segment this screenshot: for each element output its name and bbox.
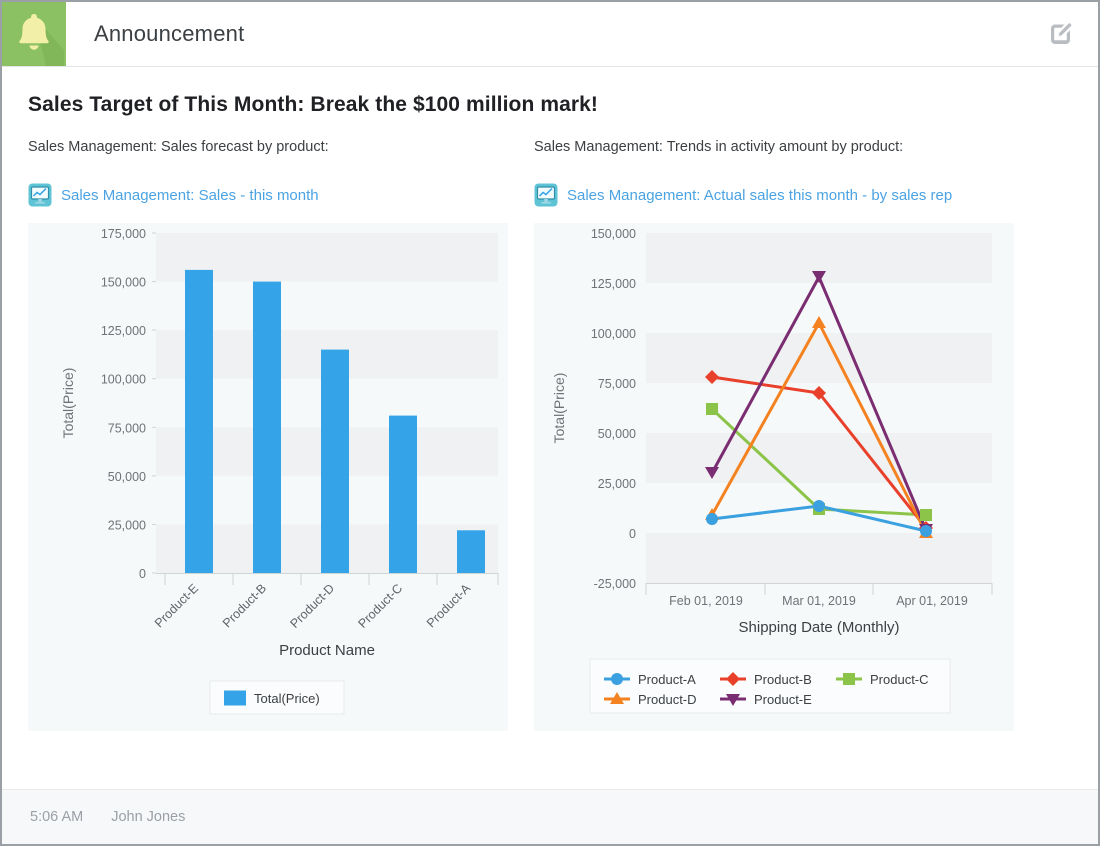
svg-text:75,000: 75,000 [108, 421, 146, 435]
svg-text:75,000: 75,000 [598, 377, 636, 391]
edit-pencil-icon[interactable] [1046, 19, 1076, 49]
svg-text:Product Name: Product Name [279, 642, 375, 659]
bar [185, 270, 213, 573]
bar-chart-panel: 175,000 150,000 125,000 100,000 75,000 5… [28, 223, 508, 731]
bell-icon [2, 2, 66, 66]
svg-text:25,000: 25,000 [598, 477, 636, 491]
svg-text:Total(Price): Total(Price) [60, 368, 76, 439]
svg-text:Product-D: Product-D [638, 692, 697, 707]
svg-text:50,000: 50,000 [598, 427, 636, 441]
left-chart-link[interactable]: Sales Management: Sales - this month [28, 183, 508, 207]
bar [253, 282, 281, 573]
svg-text:Mar 01, 2019: Mar 01, 2019 [782, 594, 856, 608]
legend-item-product-b: Product-B [720, 672, 812, 687]
svg-text:Product-B: Product-B [754, 672, 812, 687]
header-actions [1046, 2, 1098, 66]
svg-text:-25,000: -25,000 [594, 577, 636, 591]
bar [389, 416, 417, 573]
right-caption: Sales Management: Trends in activity amo… [534, 139, 1014, 155]
svg-text:Apr 01, 2019: Apr 01, 2019 [896, 594, 968, 608]
svg-text:150,000: 150,000 [101, 276, 146, 290]
svg-text:Feb 01, 2019: Feb 01, 2019 [669, 594, 743, 608]
svg-text:Total(Price): Total(Price) [551, 373, 567, 444]
announcement-body: Sales Target of This Month: Break the $1… [2, 67, 1098, 789]
report-monitor-icon [534, 183, 558, 207]
post-footer: 5:06 AM John Jones [2, 789, 1098, 844]
svg-text:0: 0 [629, 527, 636, 541]
line-chart[interactable]: 150,000 125,000 100,000 75,000 50,000 25… [534, 223, 1014, 731]
svg-text:150,000: 150,000 [591, 227, 636, 241]
window-header: Announcement [2, 2, 1098, 67]
svg-text:Shipping Date (Monthly): Shipping Date (Monthly) [739, 619, 900, 636]
line-chart-panel: 150,000 125,000 100,000 75,000 50,000 25… [534, 223, 1014, 731]
left-column: Sales Management: Sales forecast by prod… [28, 139, 508, 731]
svg-text:25,000: 25,000 [108, 518, 146, 532]
charts-row: Sales Management: Sales forecast by prod… [28, 139, 1072, 731]
left-chart-link-label[interactable]: Sales Management: Sales - this month [61, 187, 319, 204]
headline: Sales Target of This Month: Break the $1… [28, 93, 1072, 117]
right-chart-link[interactable]: Sales Management: Actual sales this mont… [534, 183, 1014, 207]
svg-text:Total(Price): Total(Price) [254, 691, 320, 706]
line-legend: Product-A Product-B Product-C [590, 659, 950, 713]
post-author: John Jones [111, 809, 185, 825]
svg-text:Product-E: Product-E [754, 692, 812, 707]
report-monitor-icon [28, 183, 52, 207]
legend-item-product-c: Product-C [836, 672, 929, 687]
svg-text:0: 0 [139, 567, 146, 581]
right-chart-link-label[interactable]: Sales Management: Actual sales this mont… [567, 187, 952, 204]
announcement-window: Announcement Sales Target of This Month:… [0, 0, 1100, 846]
svg-text:175,000: 175,000 [101, 227, 146, 241]
svg-text:100,000: 100,000 [591, 327, 636, 341]
svg-text:Product-C: Product-C [870, 672, 929, 687]
bar-legend: Total(Price) [210, 681, 344, 714]
bar-chart[interactable]: 175,000 150,000 125,000 100,000 75,000 5… [28, 223, 508, 731]
svg-text:125,000: 125,000 [101, 324, 146, 338]
left-caption: Sales Management: Sales forecast by prod… [28, 139, 508, 155]
svg-text:125,000: 125,000 [591, 277, 636, 291]
bar [321, 350, 349, 573]
svg-text:50,000: 50,000 [108, 470, 146, 484]
legend-item-product-a: Product-A [604, 672, 696, 687]
page-title: Announcement [66, 2, 244, 66]
bar [457, 530, 485, 573]
post-time: 5:06 AM [30, 809, 83, 825]
svg-text:Product-A: Product-A [638, 672, 696, 687]
svg-text:100,000: 100,000 [101, 373, 146, 387]
right-column: Sales Management: Trends in activity amo… [534, 139, 1014, 731]
